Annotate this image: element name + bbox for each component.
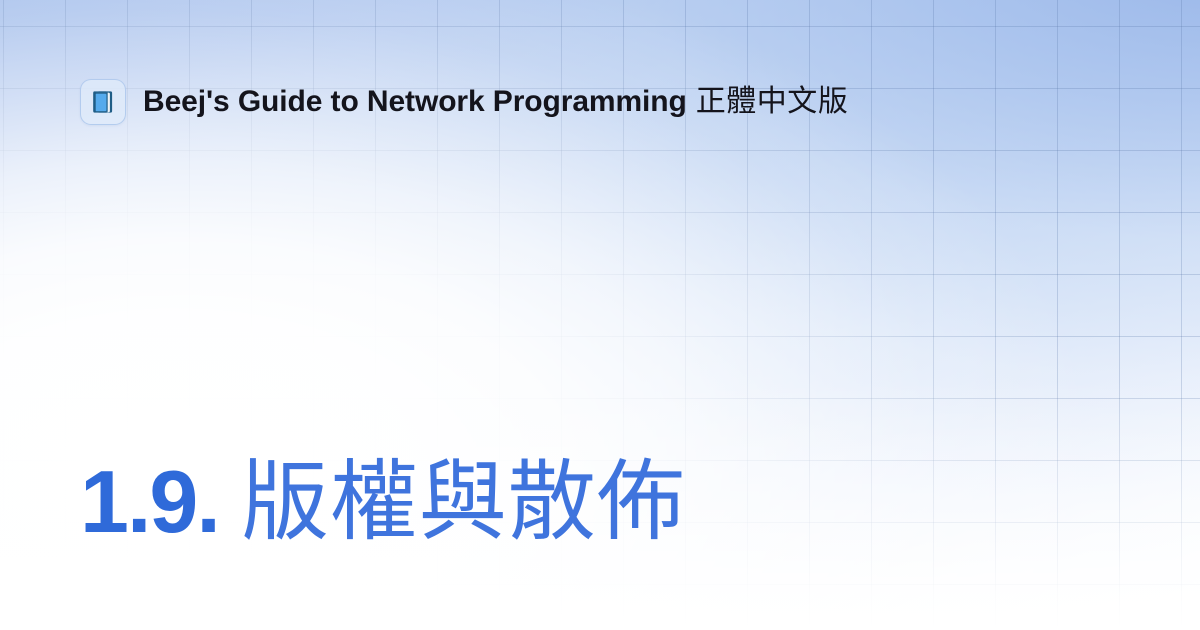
page-title: 1.9.版權與散佈 <box>80 458 686 546</box>
card-content: Beej's Guide to Network Programming正體中文版… <box>0 0 1200 630</box>
site-title: Beej's Guide to Network Programming正體中文版 <box>143 85 848 119</box>
og-card: Beej's Guide to Network Programming正體中文版… <box>0 0 1200 630</box>
blue-book-icon <box>89 88 117 116</box>
site-title-latin: Beej's Guide to Network Programming <box>143 85 687 118</box>
section-title: 版權與散佈 <box>241 452 686 551</box>
brand-row: Beej's Guide to Network Programming正體中文版 <box>80 79 848 125</box>
site-title-cjk: 正體中文版 <box>696 85 849 118</box>
brand-icon-badge <box>80 79 126 125</box>
section-number: 1.9. <box>80 452 219 551</box>
